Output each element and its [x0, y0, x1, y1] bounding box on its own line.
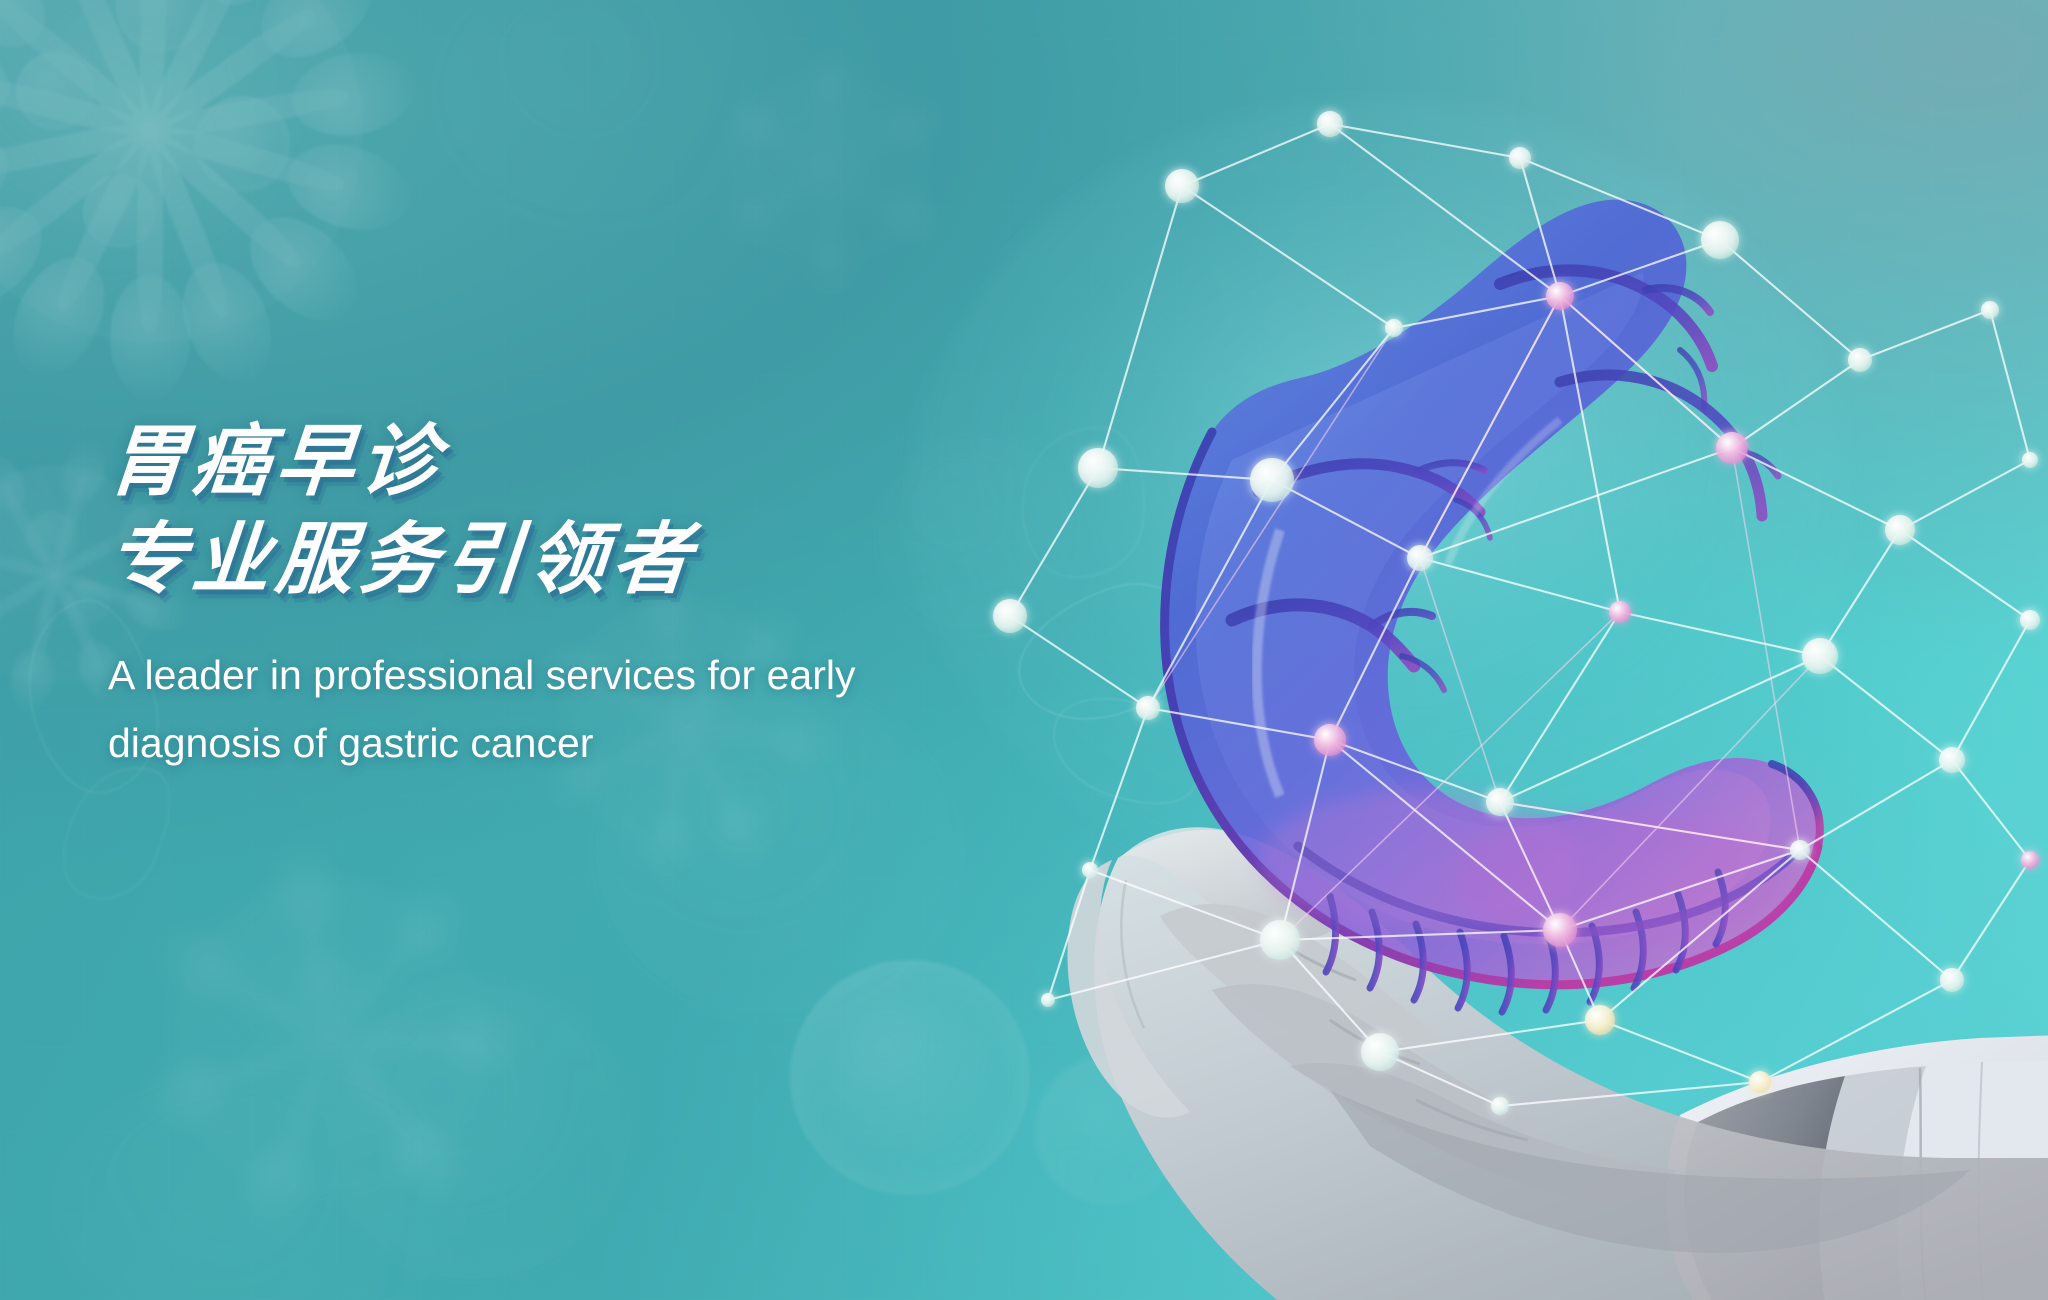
- network-node: [1885, 515, 1915, 545]
- network-node: [2021, 851, 2039, 869]
- headline-line-1: 胃癌早诊: [104, 415, 1112, 509]
- network-node: [1361, 1033, 1399, 1071]
- network-node: [1385, 319, 1403, 337]
- network-node: [1939, 747, 1965, 773]
- virus-particle-icon: [120, 830, 540, 1250]
- network-node: [1407, 545, 1433, 571]
- hero-banner: 胃癌早诊 专业服务引领者 A leader in professional se…: [0, 0, 2048, 1300]
- bokeh-circle: [430, 0, 810, 240]
- network-node: [1716, 432, 1748, 464]
- network-node: [1802, 638, 1838, 674]
- bokeh-circle: [60, 1080, 480, 1300]
- network-node: [1609, 601, 1631, 623]
- network-node: [1165, 169, 1199, 203]
- network-node: [1546, 282, 1574, 310]
- network-node: [2022, 452, 2038, 468]
- network-node: [1260, 920, 1300, 960]
- network-node: [1082, 862, 1098, 878]
- subtitle: A leader in professional services for ea…: [108, 641, 918, 777]
- network-node: [1585, 1005, 1615, 1035]
- hero-copy-block: 胃癌早诊 专业服务引领者 A leader in professional se…: [108, 415, 1108, 777]
- network-node: [1317, 111, 1343, 137]
- bokeh-circle: [330, 980, 630, 1280]
- network-node: [1543, 913, 1577, 947]
- subtitle-line-2: diagnosis of gastric cancer: [108, 709, 918, 777]
- network-node: [1041, 993, 1055, 1007]
- network-node: [2020, 610, 2040, 630]
- network-node: [1848, 348, 1872, 372]
- network-node: [1790, 840, 1810, 860]
- network-node: [1701, 221, 1739, 259]
- network-node: [1250, 458, 1294, 502]
- network-node: [1509, 147, 1531, 169]
- network-node: [1940, 968, 1964, 992]
- network-node: [1491, 1097, 1509, 1115]
- network-node: [1749, 1071, 1771, 1093]
- headline-line-2: 专业服务引领者: [104, 513, 1112, 607]
- network-node: [1314, 724, 1346, 756]
- network-node: [1136, 696, 1160, 720]
- virus-particle-icon: [0, 0, 430, 410]
- subtitle-line-1: A leader in professional services for ea…: [108, 641, 918, 709]
- network-node: [1981, 301, 1999, 319]
- network-node: [1486, 788, 1514, 816]
